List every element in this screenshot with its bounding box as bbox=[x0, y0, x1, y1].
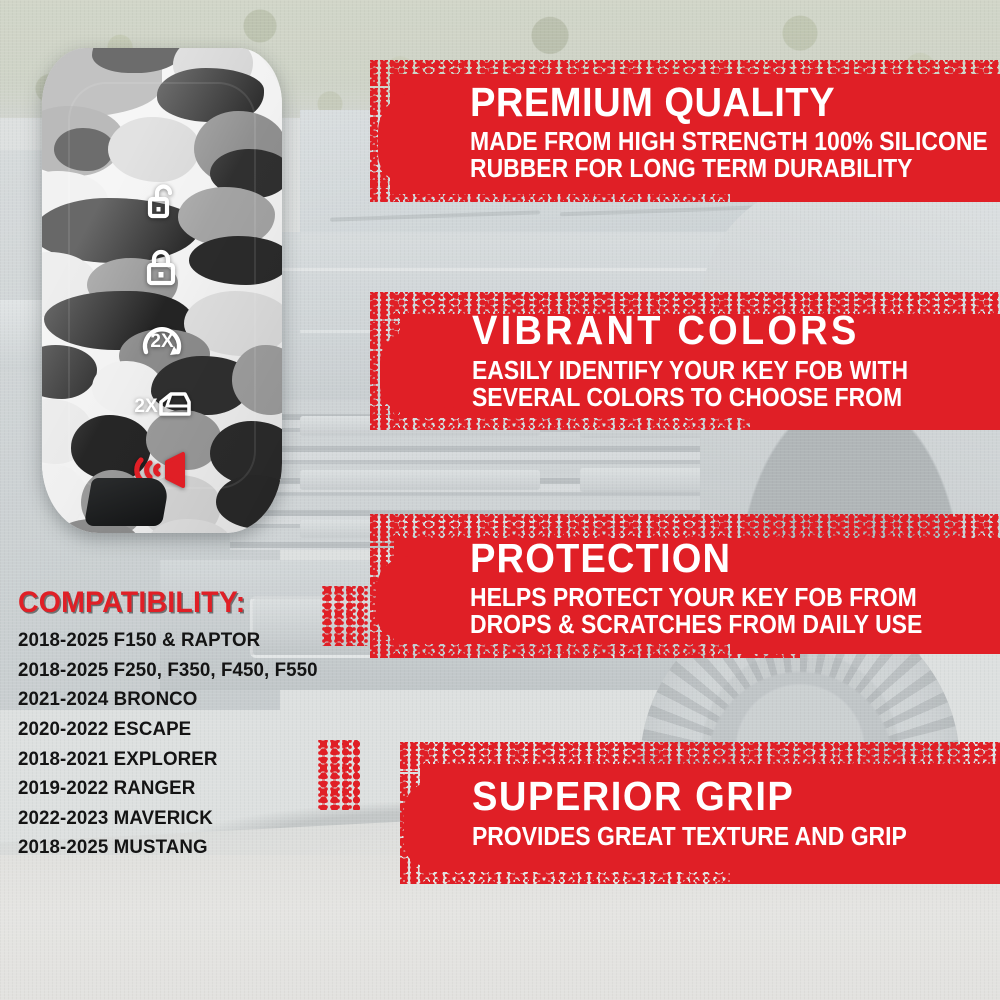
svg-text:2X: 2X bbox=[134, 396, 158, 417]
lock-padlock-icon bbox=[145, 248, 179, 288]
compatibility-item: 2018-2021 EXPLORER bbox=[18, 745, 318, 775]
compatibility-item: 2021-2024 BRONCO bbox=[18, 685, 318, 715]
feature-title: PREMIUM QUALITY bbox=[470, 82, 1000, 123]
tailgate-release-button[interactable]: 2X bbox=[42, 382, 282, 430]
compatibility-item: 2018-2025 F250, F350, F450, F550 bbox=[18, 656, 318, 686]
feature-banner-premium-quality: PREMIUM QUALITY MADE FROM HIGH STRENGTH … bbox=[370, 52, 1000, 202]
feature-subtitle-line: HELPS PROTECT YOUR KEY FOB FROM bbox=[470, 585, 922, 612]
feature-subtitle-line: DROPS & SCRATCHES FROM DAILY USE bbox=[470, 612, 922, 639]
product-feature-graphic: PREMIUM QUALITY MADE FROM HIGH STRENGTH … bbox=[0, 0, 1000, 1000]
key-fob-cover: 2X 2X bbox=[42, 48, 282, 533]
feature-subtitle-line: MADE FROM HIGH STRENGTH 100% SILICONE bbox=[470, 129, 988, 156]
compatibility-item: 2022-2023 MAVERICK bbox=[18, 804, 318, 834]
compatibility-item: 2018-2025 MUSTANG bbox=[18, 833, 318, 863]
feature-subtitle-line: EASILY IDENTIFY YOUR KEY FOB WITH bbox=[472, 358, 908, 385]
feature-subtitle-line: PROVIDES GREAT TEXTURE AND GRIP bbox=[472, 824, 907, 851]
unlock-button[interactable] bbox=[42, 180, 282, 224]
compatibility-list: 2018-2025 F150 & RAPTOR 2018-2025 F250, … bbox=[18, 626, 330, 863]
lock-button[interactable] bbox=[42, 246, 282, 290]
compatibility-item: 2018-2025 F150 & RAPTOR bbox=[18, 626, 318, 656]
feature-banner-superior-grip: SUPERIOR GRIP PROVIDES GREAT TEXTURE AND… bbox=[400, 738, 1000, 886]
unlock-padlock-icon bbox=[145, 182, 179, 222]
feature-title: SUPERIOR GRIP bbox=[472, 776, 921, 817]
compatibility-heading: COMPATIBILITY: bbox=[18, 586, 315, 620]
feature-subtitle-line: RUBBER FOR LONG TERM DURABILITY bbox=[470, 156, 988, 183]
remote-start-circular-arrow-icon: 2X bbox=[134, 316, 190, 366]
fob-body: 2X 2X bbox=[42, 48, 282, 533]
feature-banner-protection: PROTECTION HELPS PROTECT YOUR KEY FOB FR… bbox=[370, 508, 1000, 658]
feature-title: PROTECTION bbox=[470, 538, 937, 579]
tailgate-truck-icon: 2X bbox=[127, 384, 197, 428]
compatibility-item: 2019-2022 RANGER bbox=[18, 774, 318, 804]
remote-start-button[interactable]: 2X bbox=[42, 316, 282, 366]
compatibility-block: COMPATIBILITY: 2018-2025 F150 & RAPTOR 2… bbox=[18, 586, 330, 863]
feature-title: VIBRANT COLORS bbox=[472, 310, 923, 351]
feature-banner-vibrant-colors: VIBRANT COLORS EASILY IDENTIFY YOUR KEY … bbox=[370, 288, 1000, 433]
compatibility-item: 2020-2022 ESCAPE bbox=[18, 715, 318, 745]
fob-bottom-notch bbox=[84, 478, 170, 526]
feature-subtitle-line: SEVERAL COLORS TO CHOOSE FROM bbox=[472, 385, 908, 412]
svg-text:2X: 2X bbox=[150, 331, 174, 352]
